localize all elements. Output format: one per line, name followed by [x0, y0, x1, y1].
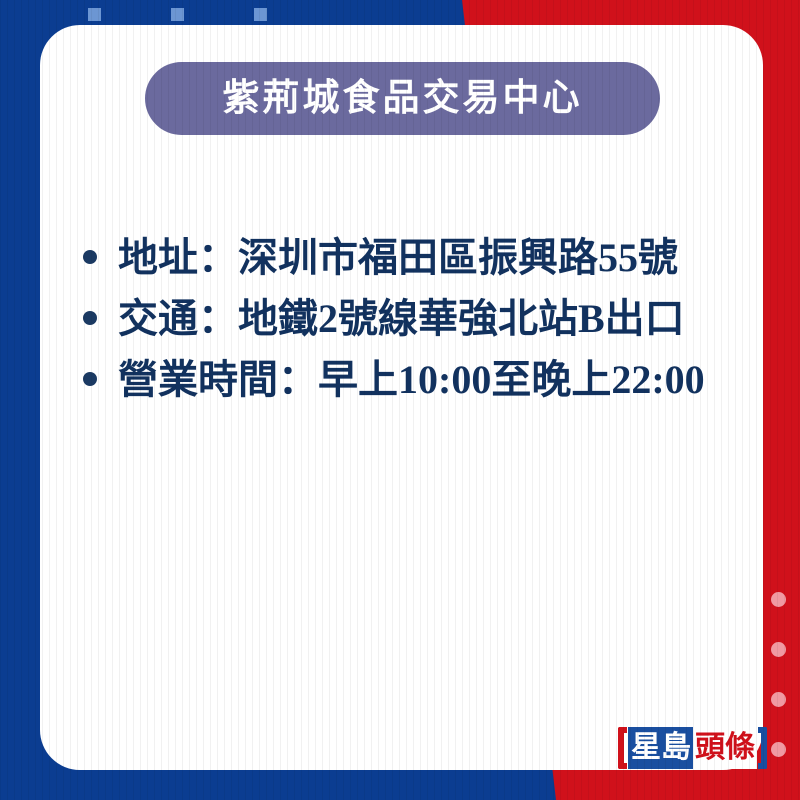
venue-details-list: 地址：深圳市福田區振興路55號 交通：地鐵2號線華強北站B出口 營業時間：早上1…: [76, 230, 736, 414]
square-dot-icon: [254, 8, 267, 21]
logo-red-text: 頭條: [693, 727, 757, 769]
list-item-label: 地址：深圳市福田區振興路55號: [118, 235, 678, 280]
square-dot-icon: [171, 8, 184, 21]
circle-dot-icon: [771, 642, 786, 657]
list-item-label: 交通：地鐵2號線華強北站B出口: [118, 296, 685, 341]
list-item: 交通：地鐵2號線華強北站B出口: [76, 291, 736, 346]
logo-wordmark: 星島 頭條: [628, 727, 757, 769]
right-decorative-dots: [771, 592, 786, 757]
sing-tao-headline-logo: 星島 頭條: [618, 725, 768, 771]
bullet-dot-icon: [83, 311, 97, 325]
square-dot-icon: [88, 8, 101, 21]
logo-left-bracket-icon: [618, 727, 627, 769]
top-decorative-dots: [88, 8, 267, 21]
poster-canvas: 紫荊城食品交易中心 地址：深圳市福田區振興路55號 交通：地鐵2號線華強北站B出…: [0, 0, 800, 800]
logo-right-bracket-icon: [758, 727, 767, 769]
circle-dot-icon: [771, 742, 786, 757]
list-item-label: 營業時間：早上10:00至晚上22:00: [118, 357, 705, 402]
bullet-dot-icon: [83, 250, 97, 264]
bullet-dot-icon: [83, 372, 97, 386]
circle-dot-icon: [771, 692, 786, 707]
title-pill: 紫荊城食品交易中心: [145, 62, 660, 135]
list-item: 地址：深圳市福田區振興路55號: [76, 230, 736, 285]
content-card: 紫荊城食品交易中心 地址：深圳市福田區振興路55號 交通：地鐵2號線華強北站B出…: [40, 25, 763, 770]
page-title: 紫荊城食品交易中心: [223, 80, 583, 117]
logo-blue-text: 星島: [628, 727, 693, 769]
list-item: 營業時間：早上10:00至晚上22:00: [76, 352, 736, 407]
circle-dot-icon: [771, 592, 786, 607]
